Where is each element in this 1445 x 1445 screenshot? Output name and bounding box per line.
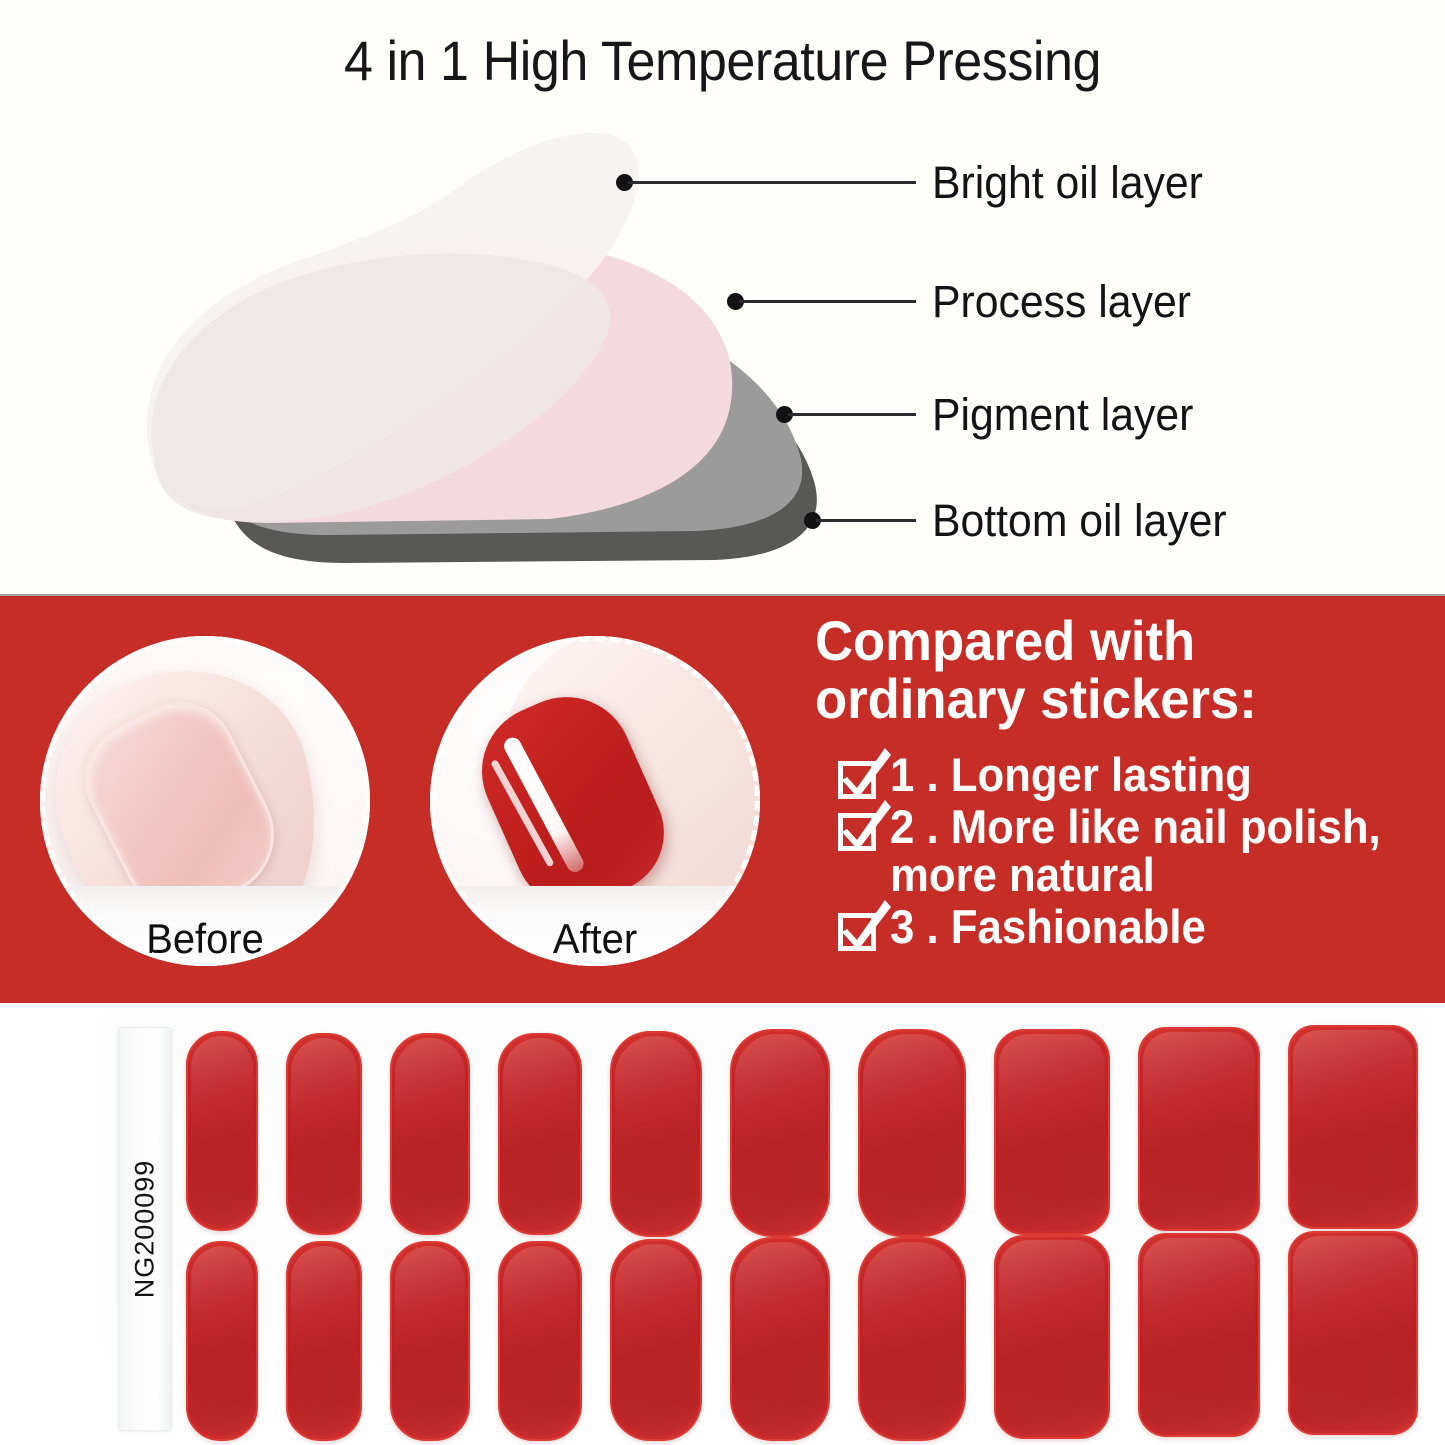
- nail-sticker-r2-c4: [498, 1241, 582, 1441]
- checklist-item-2: 2 . More like nail polish, more natural: [838, 803, 1438, 899]
- checklist-item-1-text: 1 . Longer lasting: [890, 751, 1252, 799]
- checkmark-glyph: [839, 746, 891, 798]
- label-bottom-oil-layer: Bottom oil layer: [932, 498, 1227, 543]
- comparison-heading: Compared with ordinary stickers:: [815, 612, 1390, 728]
- nail-sticker-r2-c5: [610, 1239, 702, 1441]
- callout-line-1: [628, 181, 916, 184]
- callout-line-4: [816, 519, 916, 522]
- nail-sticker-sheet: NG200099: [100, 1015, 1430, 1439]
- nail-sticker-r1-c6: [730, 1029, 830, 1237]
- checklist-item-1-label: Longer lasting: [951, 748, 1252, 801]
- nail-sticker-r1-c3: [390, 1033, 470, 1235]
- nail-sticker-r2-c10: [1288, 1231, 1418, 1435]
- nail-sticker-r1-c9: [1138, 1027, 1260, 1231]
- nail-layer-stack-illustration: [130, 95, 890, 575]
- label-pigment-layer: Pigment layer: [932, 392, 1193, 437]
- checklist-item-2-label: More like nail polish, more natural: [890, 800, 1381, 901]
- checklist-item-1-number: 1 .: [890, 748, 939, 801]
- nail-sticker-r2-c8: [994, 1235, 1110, 1439]
- nail-sticker-r1-c2: [286, 1033, 362, 1235]
- page-title: 4 in 1 High Temperature Pressing: [51, 30, 1395, 92]
- nail-sticker-r1-c5: [610, 1031, 702, 1237]
- checklist-item-3: 3 . Fashionable: [838, 903, 1438, 951]
- checkmark-glyph: [839, 798, 891, 850]
- nail-sticker-r2-c9: [1138, 1233, 1260, 1437]
- checkmark-icon: [838, 813, 876, 851]
- nail-sticker-r2-c2: [286, 1241, 362, 1441]
- serial-number-text: NG200099: [130, 1160, 161, 1299]
- nail-sticker-r2-c7: [858, 1237, 966, 1441]
- benefits-checklist: 1 . Longer lasting 2 . More like nail po…: [838, 751, 1438, 955]
- nail-sticker-r1-c4: [498, 1033, 582, 1235]
- callout-line-2: [739, 300, 916, 303]
- checkmark-icon: [838, 913, 876, 951]
- checkmark-icon: [838, 761, 876, 799]
- checklist-item-2-text: 2 . More like nail polish, more natural: [890, 803, 1381, 899]
- label-bright-oil-layer: Bright oil layer: [932, 160, 1203, 205]
- nail-sticker-r1-c1: [186, 1031, 258, 1231]
- sticker-sheet-section: NG200099: [0, 1003, 1445, 1445]
- checkmark-glyph: [839, 898, 891, 950]
- checklist-item-3-label: Fashionable: [951, 900, 1206, 953]
- callout-line-3: [788, 413, 916, 416]
- layer-diagram-section: 4 in 1 High Temperature Pressing Bright …: [0, 0, 1445, 594]
- checklist-item-1: 1 . Longer lasting: [838, 751, 1438, 799]
- checklist-item-3-number: 3 .: [890, 900, 939, 953]
- comparison-section: Before After Compared with ordinary stic…: [0, 594, 1445, 1005]
- after-photo-circle: After: [430, 636, 760, 966]
- layer-stack-svg: [130, 95, 890, 575]
- checklist-item-2-number: 2 .: [890, 800, 939, 853]
- nail-sticker-r1-c7: [858, 1029, 966, 1237]
- product-infographic: 4 in 1 High Temperature Pressing Bright …: [0, 0, 1445, 1445]
- before-photo-circle: Before: [40, 636, 370, 966]
- nail-sticker-r1-c8: [994, 1029, 1110, 1235]
- before-caption: Before: [48, 918, 362, 960]
- checklist-item-3-text: 3 . Fashionable: [890, 903, 1206, 951]
- nail-sticker-r2-c3: [390, 1241, 470, 1441]
- nail-sticker-r2-c1: [186, 1241, 258, 1441]
- serial-number-strip: NG200099: [118, 1027, 172, 1431]
- nail-sticker-r2-c6: [730, 1237, 830, 1441]
- after-caption: After: [438, 918, 752, 960]
- label-process-layer: Process layer: [932, 279, 1191, 324]
- nail-sticker-r1-c10: [1288, 1025, 1418, 1229]
